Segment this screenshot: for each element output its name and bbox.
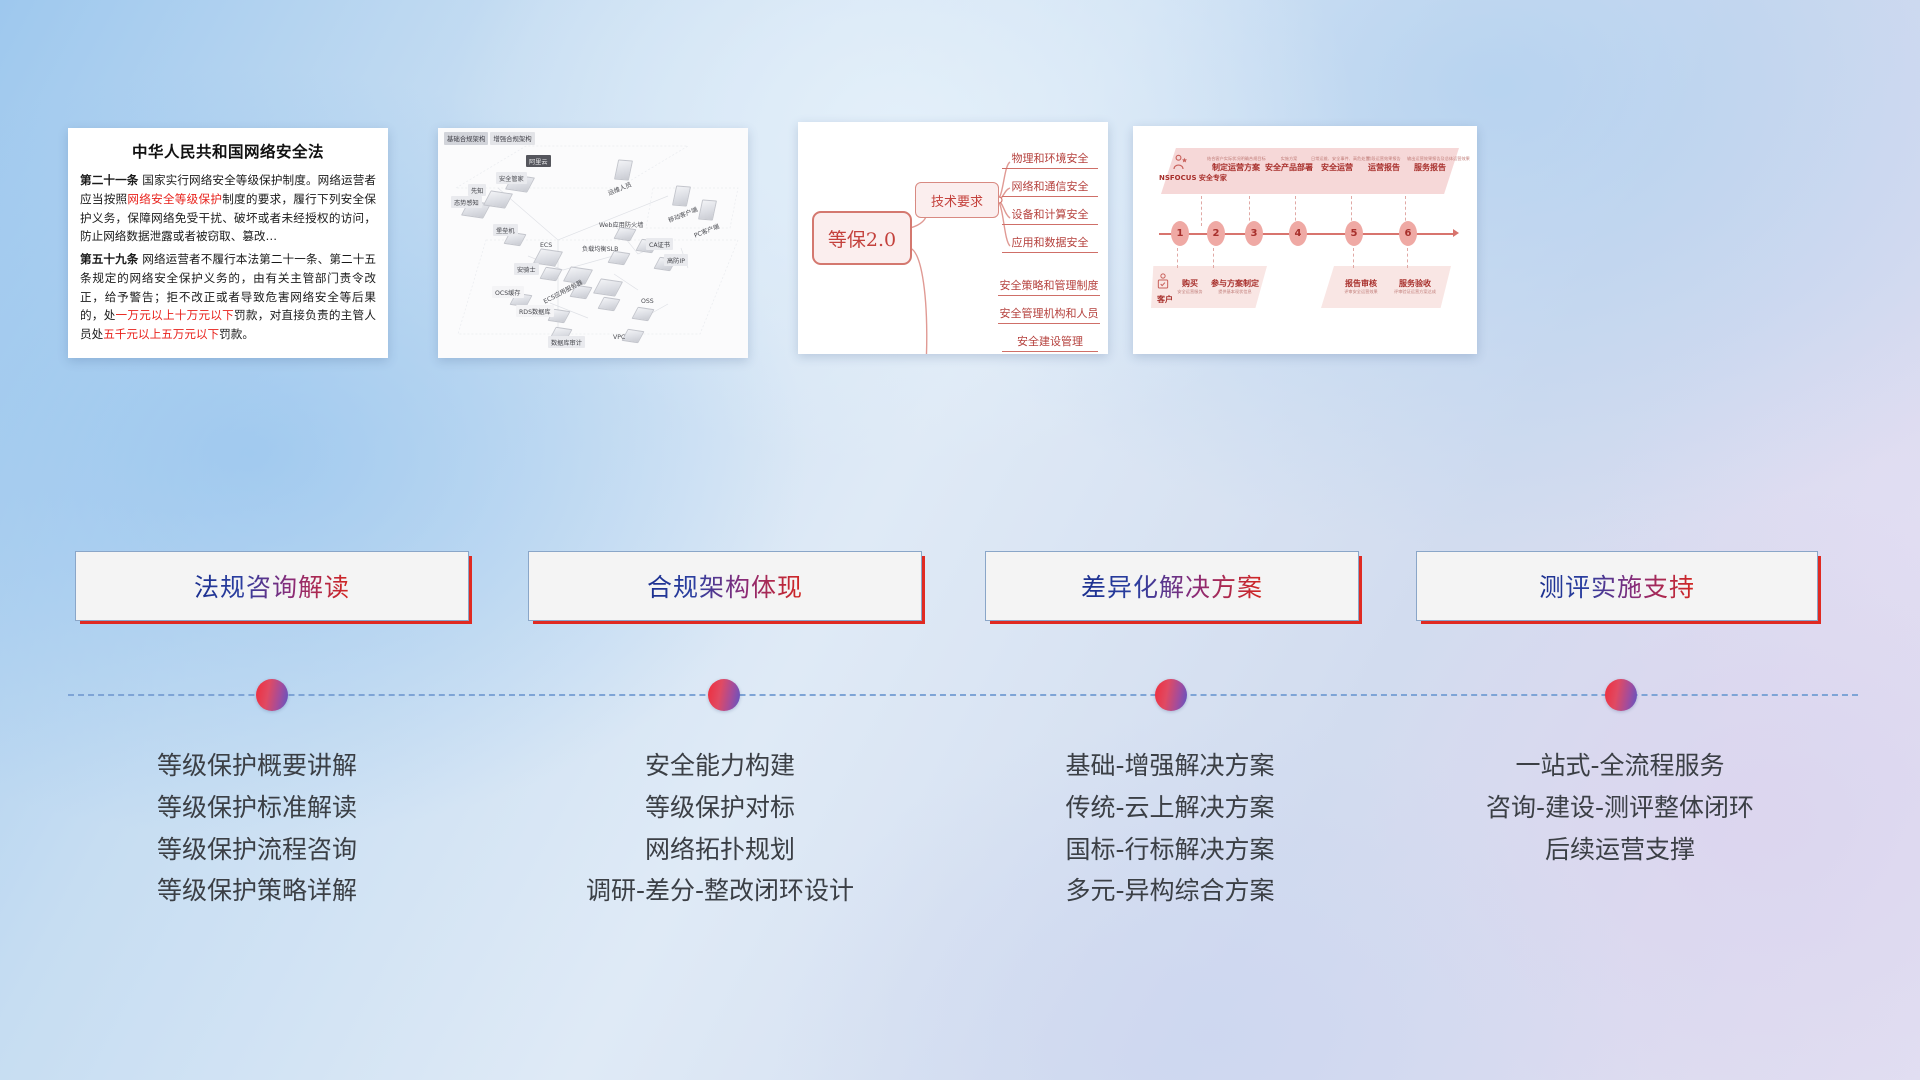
mindmap-leaf-policy: 安全策略和管理制度	[998, 277, 1100, 296]
law-article-21-label: 第二十一条	[80, 173, 138, 187]
arch-label-security-manager: 安全管家	[496, 172, 527, 184]
list-item: 安全能力构建	[530, 745, 910, 787]
timeline-dot-1[interactable]	[256, 679, 288, 711]
list-item: 多元-异构综合方案	[975, 870, 1365, 912]
law-article-21-highlight: 网络安全等级保护	[127, 192, 222, 206]
card-mindmap[interactable]: 等保2.0 技术要求 管理要求 物理和环境安全 网络和通信安全 设备和计算安全 …	[798, 122, 1108, 354]
mindmap-leaf-network: 网络和通信安全	[1002, 178, 1098, 197]
timeline-dot-2[interactable]	[708, 679, 740, 711]
heading-label-2: 合规架构体现	[647, 568, 803, 604]
nsfocus-connector-b6	[1407, 248, 1409, 268]
expert-person-icon	[1171, 154, 1189, 172]
timeline-dot-4[interactable]	[1605, 679, 1637, 711]
law-content: 中华人民共和国网络安全法 第二十一条 国家实行网络安全等级保护制度。网络运营者应…	[68, 128, 388, 358]
mindmap-center: 等保2.0	[812, 211, 912, 265]
slide-root: 中华人民共和国网络安全法 第二十一条 国家实行网络安全等级保护制度。网络运营者应…	[0, 0, 1920, 1080]
mindmap-leaf-physical: 物理和环境安全	[1002, 150, 1098, 169]
column-list-1: 等级保护概要讲解 等级保护标准解读 等级保护流程咨询 等级保护策略详解	[72, 745, 442, 912]
list-item: 一站式-全流程服务	[1420, 745, 1820, 787]
customer-person-icon	[1155, 272, 1171, 292]
heading-box-differentiated-solution[interactable]: 差异化解决方案	[985, 551, 1359, 621]
mindmap: 等保2.0 技术要求 管理要求 物理和环境安全 网络和通信安全 设备和计算安全 …	[798, 122, 1108, 354]
nsfocus-top-5: 阶段运营效果报告 运营报告	[1361, 156, 1407, 173]
arch-label-aliyun: 阿里云	[526, 155, 551, 167]
arch-label-vpc: VPC	[610, 332, 628, 342]
heading-label-4: 测评实施支持	[1539, 568, 1695, 604]
architecture-diagram: 基础合规架构 增强合规架构	[438, 128, 748, 358]
nsfocus-top-6: 输出运营效果报告及总体运营效果 服务报告	[1407, 156, 1453, 173]
nsfocus-top-3: 实施方案 安全产品部署	[1263, 156, 1315, 173]
nsfocus-connector-2	[1201, 196, 1203, 226]
heading-box-assessment-support[interactable]: 测评实施支持	[1416, 551, 1818, 621]
nsfocus-bottom-6: 服务验收 评审验证运营方案达成	[1393, 278, 1437, 295]
law-article-59: 第五十九条 网络运营者不履行本法第二十一条、第二十五条规定的网络安全保护义务的，…	[80, 250, 376, 344]
nsfocus-connector-b5	[1353, 248, 1355, 268]
arch-label-xianzhi: 先知	[468, 184, 486, 196]
law-article-59-highlight-1: 一万元以上十万元以下	[116, 308, 234, 322]
column-list-4: 一站式-全流程服务 咨询-建设-测评整体闭环 后续运营支撑	[1420, 745, 1820, 870]
nsfocus-connector-b2	[1213, 248, 1215, 268]
heading-box-regulation-consulting[interactable]: 法规咨询解读	[75, 551, 469, 621]
law-article-59-text-3: 罚款。	[219, 327, 254, 341]
arch-label-ocs: OCS缓存	[492, 286, 524, 298]
heading-box-compliance-architecture[interactable]: 合规架构体现	[528, 551, 922, 621]
card-nsfocus-timeline[interactable]: NSFOCUS 安全专家 客户 1 2 3 4 5 6	[1133, 126, 1477, 354]
heading-label-3: 差异化解决方案	[1081, 568, 1263, 604]
mindmap-branch-technical: 技术要求	[915, 182, 999, 218]
arch-label-ca: CA证书	[646, 238, 673, 250]
list-item: 基础-增强解决方案	[975, 745, 1365, 787]
arch-label-rds: RDS数据库	[516, 305, 554, 317]
mindmap-leaf-device: 设备和计算安全	[1002, 206, 1098, 225]
timeline-dot-3[interactable]	[1155, 679, 1187, 711]
list-item: 调研-差分-整改闭环设计	[530, 870, 910, 912]
nsfocus-bottom-1: 购买 安全运营服务	[1175, 278, 1205, 295]
arch-label-bastion: 堡垒机	[493, 224, 518, 236]
nsfocus-bottom-2: 参与方案制定 提供基本现状信息	[1207, 278, 1263, 295]
arch-label-oss: OSS	[638, 296, 657, 306]
nsfocus-step-4: 4	[1289, 221, 1307, 246]
nsfocus-step-6: 6	[1399, 221, 1417, 246]
arch-label-db-audit: 数据库审计	[548, 336, 585, 348]
nsfocus-step-2: 2	[1207, 221, 1225, 246]
list-item: 咨询-建设-测评整体闭环	[1420, 787, 1820, 829]
list-item: 等级保护对标	[530, 787, 910, 829]
timeline-dashed-line	[68, 694, 1858, 696]
list-item: 等级保护概要讲解	[72, 745, 442, 787]
list-item: 等级保护流程咨询	[72, 829, 442, 871]
mindmap-leaf-org: 安全管理机构和人员	[998, 305, 1100, 324]
card-architecture[interactable]: 基础合规架构 增强合规架构	[438, 128, 748, 358]
nsfocus-step-5: 5	[1345, 221, 1363, 246]
list-item: 传统-云上解决方案	[975, 787, 1365, 829]
law-article-59-highlight-2: 五千元以上五万元以下	[103, 327, 219, 341]
nsfocus-expert-role: NSFOCUS 安全专家	[1159, 174, 1203, 183]
arch-label-agent: 安骑士	[514, 263, 539, 275]
nsfocus-top-4: 日常运维、安全事件、高危处置 安全运营	[1311, 156, 1363, 173]
nsfocus-bottom-5: 报告审核 评审安全运营效果	[1339, 278, 1383, 295]
column-list-3: 基础-增强解决方案 传统-云上解决方案 国标-行标解决方案 多元-异构综合方案	[975, 745, 1365, 912]
arch-label-slb: 负载均衡SLB	[579, 242, 621, 254]
law-article-21: 第二十一条 国家实行网络安全等级保护制度。网络运营者应当按照网络安全等级保护制度…	[80, 171, 376, 246]
list-item: 等级保护标准解读	[72, 787, 442, 829]
nsfocus-step-3: 3	[1245, 221, 1263, 246]
arch-label-situational: 态势感知	[451, 196, 482, 208]
law-article-59-label: 第五十九条	[80, 252, 138, 266]
nsfocus-axis-arrow	[1453, 229, 1459, 237]
nsfocus-step-1: 1	[1171, 221, 1189, 246]
list-item: 国标-行标解决方案	[975, 829, 1365, 871]
arch-label-anti-ddos: 高防IP	[664, 254, 688, 266]
arch-label-ecs: ECS	[537, 240, 555, 250]
list-item: 等级保护策略详解	[72, 870, 442, 912]
nsfocus-timeline: NSFOCUS 安全专家 客户 1 2 3 4 5 6	[1133, 126, 1477, 354]
heading-label-1: 法规咨询解读	[194, 568, 350, 604]
list-item: 后续运营支撑	[1420, 829, 1820, 871]
card-law[interactable]: 中华人民共和国网络安全法 第二十一条 国家实行网络安全等级保护制度。网络运营者应…	[68, 128, 388, 358]
list-item: 网络拓扑规划	[530, 829, 910, 871]
mindmap-leaf-construction: 安全建设管理	[1002, 333, 1098, 352]
nsfocus-top-2: 结合客户实际状况明确合规目标 制定运营方案	[1207, 156, 1265, 173]
nsfocus-customer-role: 客户	[1153, 294, 1177, 305]
mindmap-leaf-application: 应用和数据安全	[1002, 234, 1098, 253]
law-title: 中华人民共和国网络安全法	[80, 140, 376, 162]
nsfocus-connector-b1	[1177, 248, 1179, 268]
arch-label-waf: Web应用防火墙	[596, 218, 646, 230]
column-list-2: 安全能力构建 等级保护对标 网络拓扑规划 调研-差分-整改闭环设计	[530, 745, 910, 912]
